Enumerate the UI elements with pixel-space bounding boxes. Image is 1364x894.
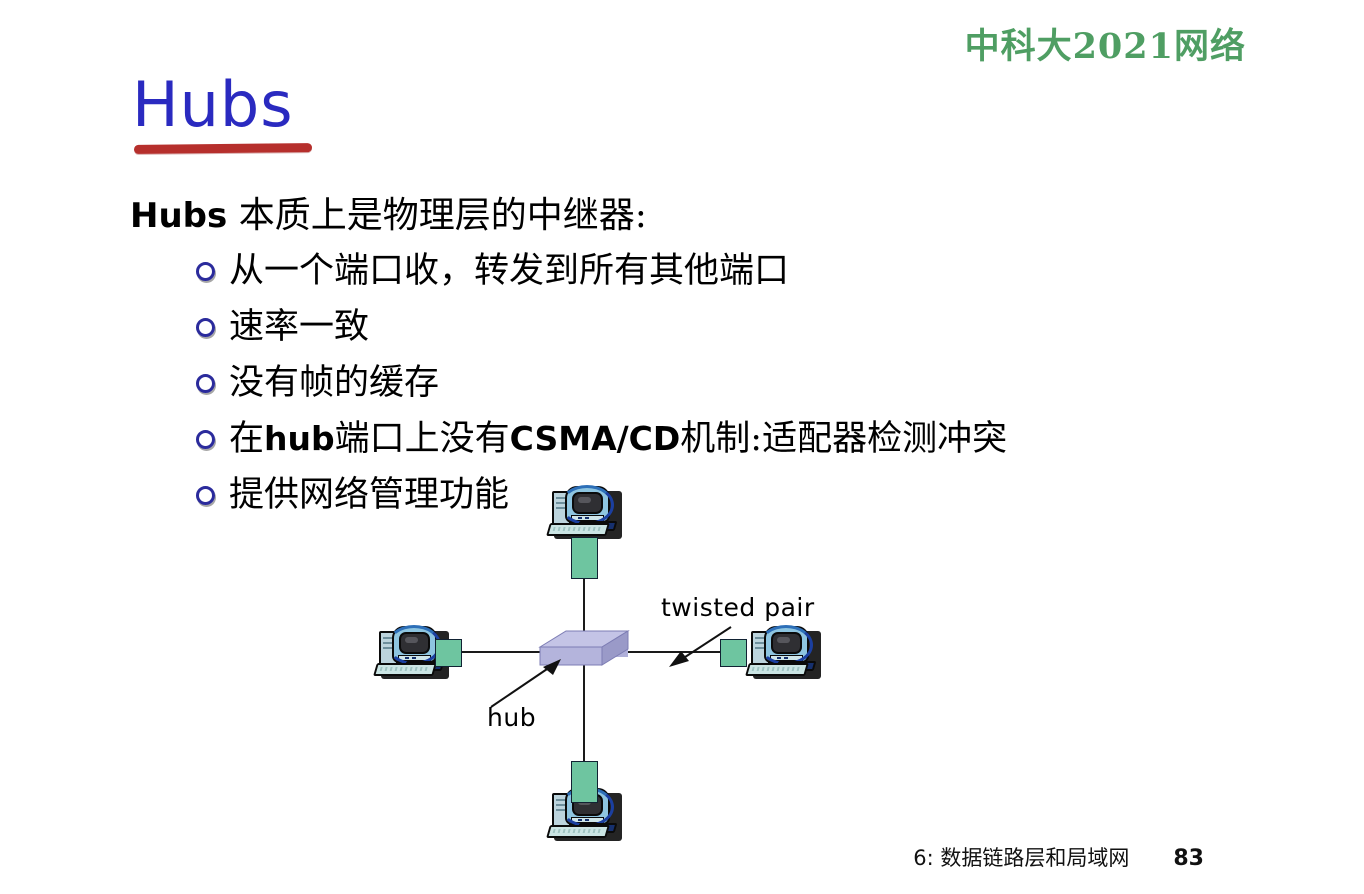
list-item: 从一个端口收，转发到所有其他端口 bbox=[196, 243, 1007, 299]
list-item-label: 从一个端口收，转发到所有其他端口 bbox=[229, 254, 789, 289]
slide-title-block: Hubs bbox=[132, 74, 294, 136]
bullet-ring-icon bbox=[196, 486, 215, 505]
bullet-text-pre: 在 bbox=[229, 419, 264, 459]
list-item: 速率一致 bbox=[196, 299, 1007, 355]
bullet-term-hub: hub bbox=[264, 419, 335, 458]
footer-chapter-label: 6: 数据链路层和局域网 bbox=[913, 842, 1129, 872]
computer-arc-accent bbox=[560, 485, 614, 525]
title-underline-stroke bbox=[134, 143, 312, 154]
course-header-label: 中科大2021网络 bbox=[965, 18, 1246, 69]
computer-keyboard bbox=[373, 663, 437, 676]
page-title: Hubs bbox=[132, 74, 294, 136]
network-adapter bbox=[571, 761, 598, 803]
bullet-text-mid: 端口上没有 bbox=[335, 419, 510, 459]
network-adapter bbox=[571, 537, 598, 579]
hub-label: hub bbox=[487, 703, 536, 732]
computer-keyboard bbox=[546, 825, 610, 838]
bullet-ring-icon bbox=[196, 430, 215, 449]
bullet-ring-icon bbox=[196, 374, 215, 393]
computer-arc-accent bbox=[759, 625, 813, 665]
lead-term: Hubs bbox=[130, 196, 227, 236]
list-item: 没有帧的缓存 bbox=[196, 355, 1007, 411]
list-item: 在hub端口上没有CSMA/CD机制:适配器检测冲突 bbox=[196, 411, 1007, 467]
computer-icon bbox=[548, 483, 622, 539]
list-item-label: 没有帧的缓存 bbox=[229, 366, 439, 401]
hub-network-diagram: hub twisted pair bbox=[355, 475, 855, 855]
slide-canvas: 中科大2021网络 Hubs Hubs 本质上是物理层的中继器: 从一个端口收，… bbox=[0, 0, 1364, 894]
twisted-pair-arrow-icon bbox=[665, 623, 745, 671]
list-item-label: 速率一致 bbox=[229, 310, 369, 345]
bullet-ring-icon bbox=[196, 318, 215, 337]
computer-icon bbox=[747, 623, 821, 679]
bullet-term-csmacd: CSMA/CD bbox=[510, 419, 681, 458]
lead-description: 本质上是物理层的中继器: bbox=[227, 195, 647, 236]
footer-page-number: 83 bbox=[1173, 846, 1204, 871]
lead-paragraph: Hubs 本质上是物理层的中继器: bbox=[130, 186, 647, 238]
slide-footer: 6: 数据链路层和局域网 83 bbox=[0, 842, 1364, 872]
computer-keyboard bbox=[745, 663, 809, 676]
computer-arc-accent bbox=[387, 625, 441, 665]
network-adapter bbox=[435, 639, 462, 667]
computer-keyboard bbox=[546, 523, 610, 536]
twisted-pair-label: twisted pair bbox=[661, 593, 815, 622]
bullet-text-post: 机制:适配器检测冲突 bbox=[680, 419, 1007, 459]
list-item-label: 在hub端口上没有CSMA/CD机制:适配器检测冲突 bbox=[229, 422, 1007, 457]
bullet-ring-icon bbox=[196, 262, 215, 281]
